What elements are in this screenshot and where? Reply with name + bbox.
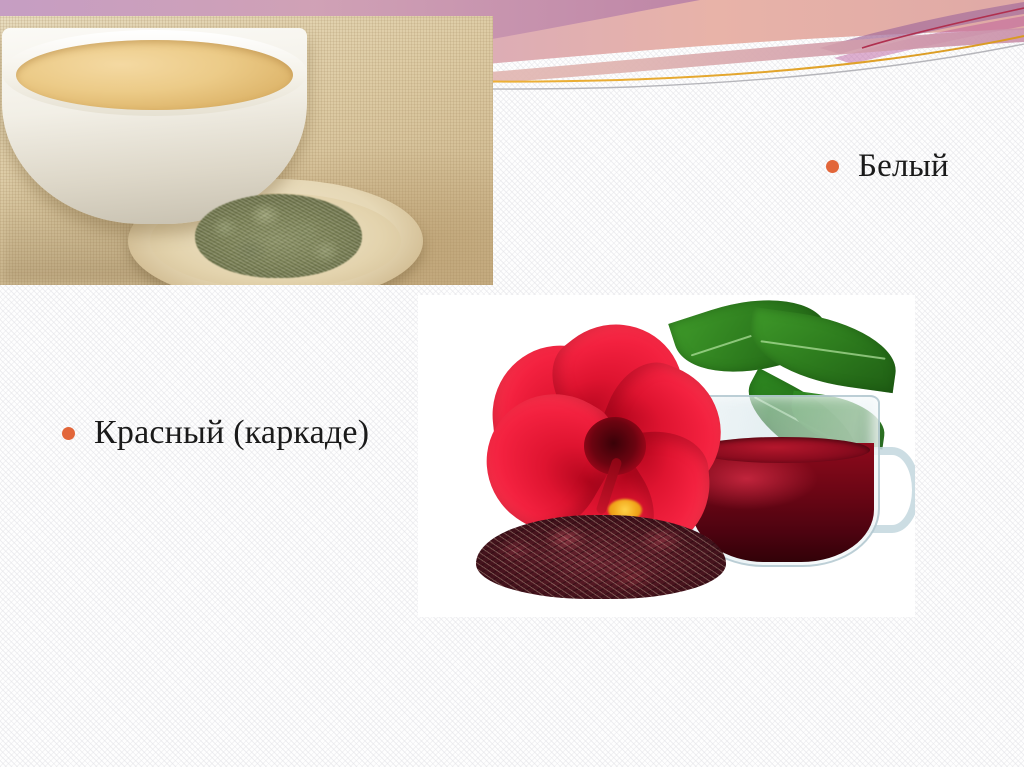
cup-rim [2, 30, 307, 116]
swoosh-ribbon-upper [820, 2, 1024, 54]
leaf-vein [760, 341, 885, 361]
bullet-label-karkade: Красный (каркаде) [94, 414, 369, 452]
karkade-photo [418, 295, 915, 617]
bullet-item-white-tea[interactable]: Белый [826, 148, 949, 185]
tea-liquid [16, 40, 293, 110]
swoosh-line-crimson [862, 8, 1024, 48]
dried-white-tea-leaves [195, 194, 362, 278]
bullet-dot-icon [826, 160, 839, 173]
bullet-item-karkade[interactable]: Красный (каркаде) [62, 414, 369, 452]
bullet-dot-icon [62, 427, 75, 440]
presentation-slide: Белый Красный (каркаде) [0, 0, 1024, 767]
swoosh-ribbon-lower [834, 16, 1024, 64]
bullet-label-white-tea: Белый [858, 148, 949, 185]
dried-karkade-petals [476, 515, 726, 599]
white-tea-photo [0, 16, 493, 285]
